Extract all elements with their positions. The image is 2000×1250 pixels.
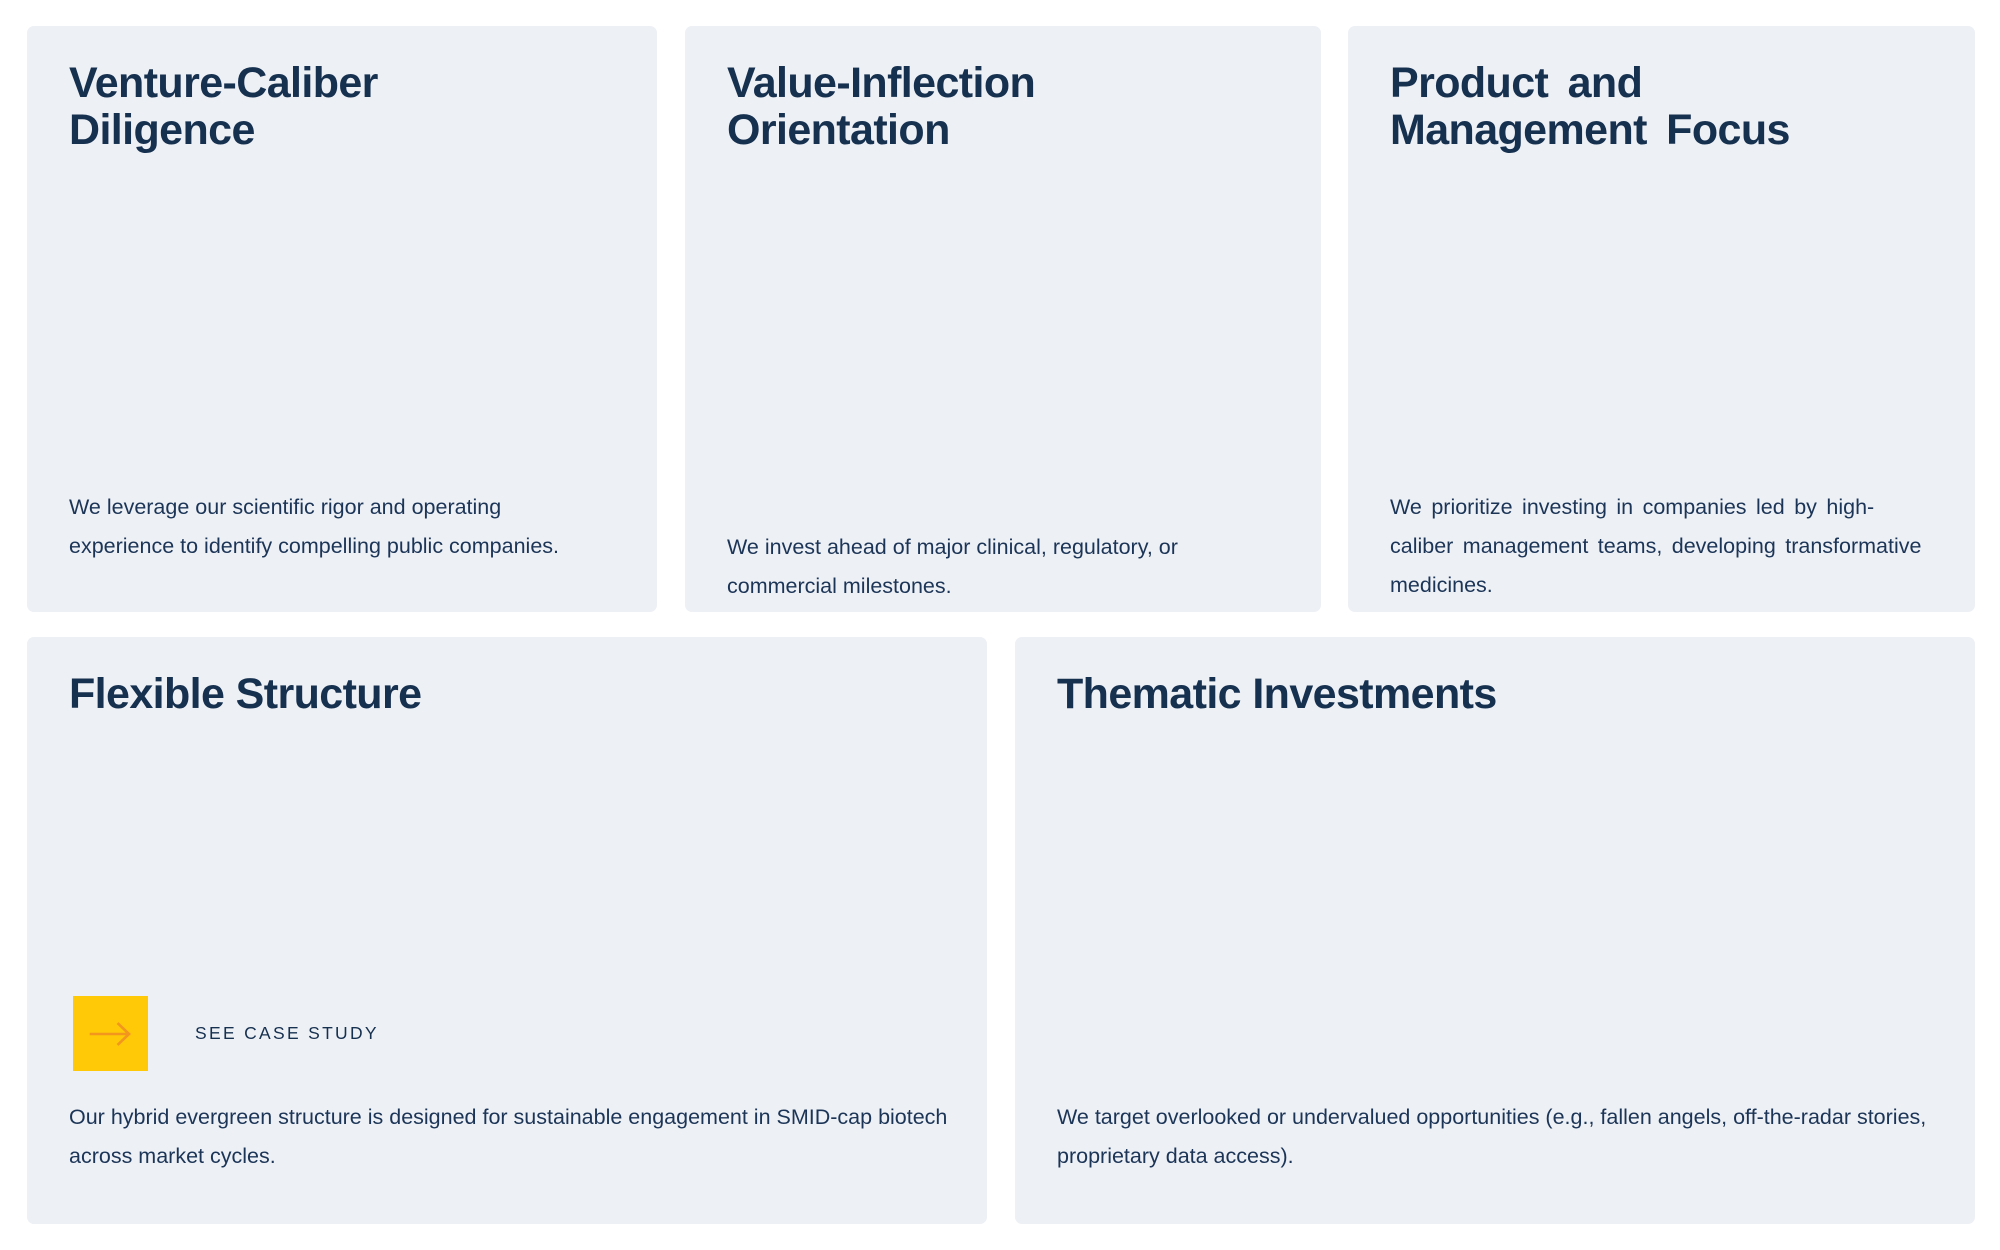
- card-product-and-management-focus: Product and Management Focus We prioriti…: [1348, 26, 1975, 612]
- card-title: Thematic Investments: [1057, 671, 1497, 718]
- card-title: Value-Inflection Orientation: [727, 60, 1035, 155]
- see-case-study-label: SEE CASE STUDY: [195, 1023, 379, 1044]
- card-body-text: We target overlooked or undervalued oppo…: [1057, 1098, 1937, 1176]
- card-venture-caliber-diligence: Venture-Caliber Diligence We leverage ou…: [27, 26, 657, 612]
- card-body-text: We leverage our scientific rigor and ope…: [69, 488, 589, 566]
- card-body-text: We invest ahead of major clinical, regul…: [727, 528, 1227, 606]
- card-thematic-investments: Thematic Investments We target overlooke…: [1015, 637, 1975, 1224]
- card-title: Venture-Caliber Diligence: [69, 60, 378, 155]
- arrow-right-icon: [73, 996, 148, 1071]
- see-case-study-button[interactable]: SEE CASE STUDY: [73, 996, 379, 1071]
- card-flexible-structure: Flexible Structure SEE CASE STUDY Our hy…: [27, 637, 987, 1224]
- feature-card-grid: Venture-Caliber Diligence We leverage ou…: [0, 0, 2000, 1250]
- card-body-text: Our hybrid evergreen structure is design…: [69, 1098, 969, 1176]
- card-body-text: We prioritize investing in companies led…: [1390, 488, 1935, 605]
- card-title: Flexible Structure: [69, 671, 421, 718]
- card-title: Product and Management Focus: [1390, 60, 1790, 155]
- card-value-inflection-orientation: Value-Inflection Orientation We invest a…: [685, 26, 1321, 612]
